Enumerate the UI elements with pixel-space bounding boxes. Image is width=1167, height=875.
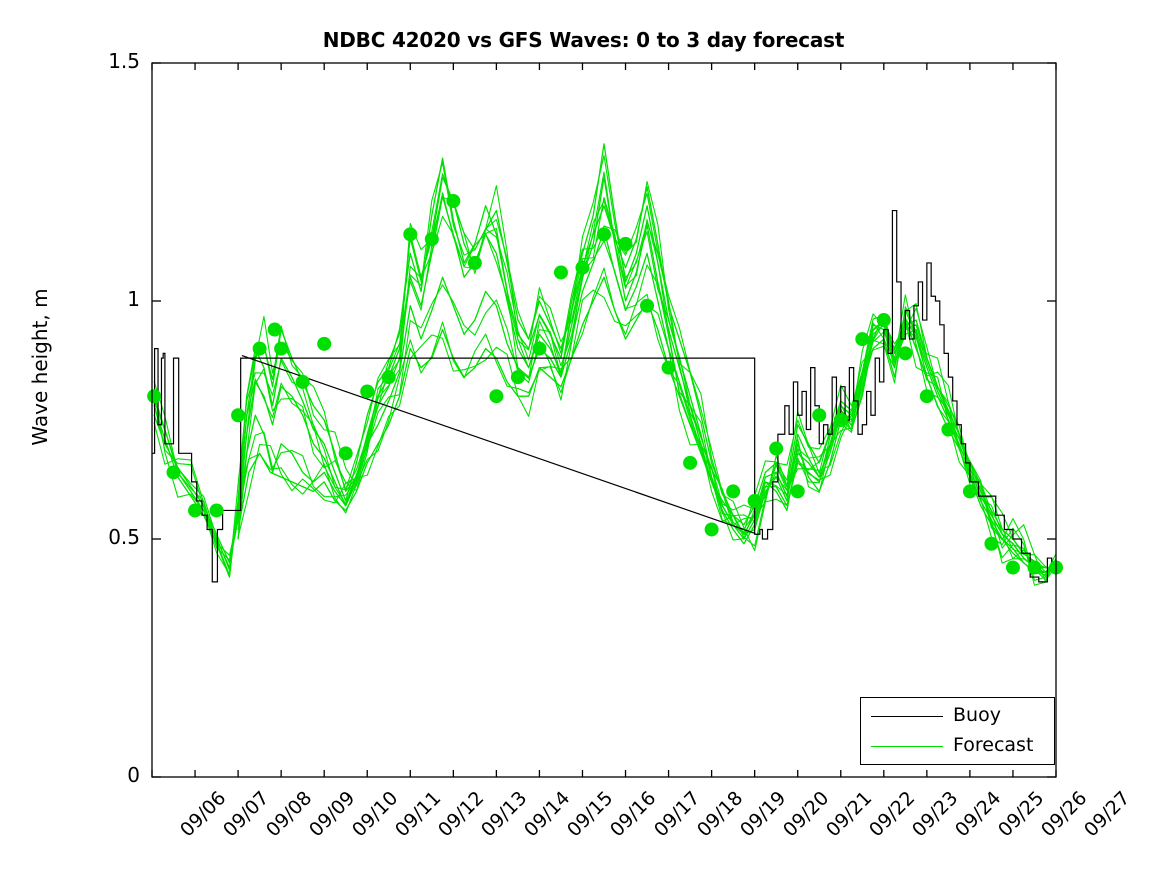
- forecast-data-point: [268, 323, 282, 337]
- forecast-data-point: [1006, 561, 1020, 575]
- forecast-data-point: [210, 503, 224, 517]
- forecast-data-point: [339, 446, 353, 460]
- forecast-data-point: [705, 522, 719, 536]
- forecast-data-point: [941, 423, 955, 437]
- forecast-data-point: [834, 413, 848, 427]
- forecast-data-point: [403, 227, 417, 241]
- forecast-data-point: [489, 389, 503, 403]
- forecast-ensemble-member: [238, 241, 1056, 575]
- forecast-data-point: [554, 265, 568, 279]
- y-tick-label: 0.5: [70, 525, 140, 549]
- forecast-data-point: [511, 370, 525, 384]
- forecast-data-point: [253, 342, 267, 356]
- forecast-data-point: [748, 494, 762, 508]
- forecast-data-point: [382, 370, 396, 384]
- y-tick-label: 1.5: [70, 49, 140, 73]
- legend-label-buoy: Buoy: [953, 704, 1001, 726]
- forecast-data-point: [898, 346, 912, 360]
- forecast-data-point: [769, 442, 783, 456]
- forecast-data-point: [296, 375, 310, 389]
- forecast-data-point: [188, 503, 202, 517]
- forecast-data-point: [575, 261, 589, 275]
- axis-layer: [152, 63, 1056, 777]
- forecast-data-point: [360, 384, 374, 398]
- forecast-data-point: [1027, 561, 1041, 575]
- forecast-data-point: [274, 342, 288, 356]
- y-tick-label: 1: [70, 287, 140, 311]
- legend-item-buoy: Buoy: [861, 702, 1056, 732]
- forecast-ensemble-member: [154, 155, 1056, 579]
- forecast-data-point: [920, 389, 934, 403]
- forecast-data-point: [231, 408, 245, 422]
- legend-swatch-forecast: [871, 746, 943, 747]
- forecast-data-point: [791, 484, 805, 498]
- forecast-series-layer: [154, 144, 1056, 585]
- forecast-data-point: [726, 484, 740, 498]
- forecast-data-point: [619, 237, 633, 251]
- forecast-data-point: [597, 227, 611, 241]
- forecast-data-point: [963, 484, 977, 498]
- forecast-data-point: [984, 537, 998, 551]
- forecast-line-5: [238, 230, 1056, 573]
- legend-label-forecast: Forecast: [953, 734, 1033, 756]
- forecast-data-point: [812, 408, 826, 422]
- legend: Buoy Forecast: [860, 697, 1055, 765]
- forecast-data-point: [877, 313, 891, 327]
- forecast-data-point: [167, 465, 181, 479]
- legend-item-forecast: Forecast: [861, 732, 1056, 762]
- forecast-ensemble-member: [238, 268, 1056, 574]
- forecast-data-point: [147, 389, 161, 403]
- forecast-ensemble-member: [154, 197, 1056, 585]
- figure-canvas: NDBC 42020 vs GFS Waves: 0 to 3 day fore…: [0, 0, 1167, 875]
- forecast-data-point: [683, 456, 697, 470]
- forecast-data-point: [317, 337, 331, 351]
- forecast-data-point: [468, 256, 482, 270]
- forecast-ensemble-member: [154, 182, 1056, 581]
- forecast-data-point: [855, 332, 869, 346]
- forecast-line-6: [238, 277, 1056, 567]
- forecast-ensemble-member: [238, 290, 1056, 581]
- y-tick-label: 0: [70, 763, 140, 787]
- forecast-data-point: [640, 299, 654, 313]
- forecast-data-point: [532, 342, 546, 356]
- forecast-data-point: [662, 361, 676, 375]
- forecast-data-point: [446, 194, 460, 208]
- legend-swatch-buoy: [871, 716, 943, 717]
- forecast-data-point: [425, 232, 439, 246]
